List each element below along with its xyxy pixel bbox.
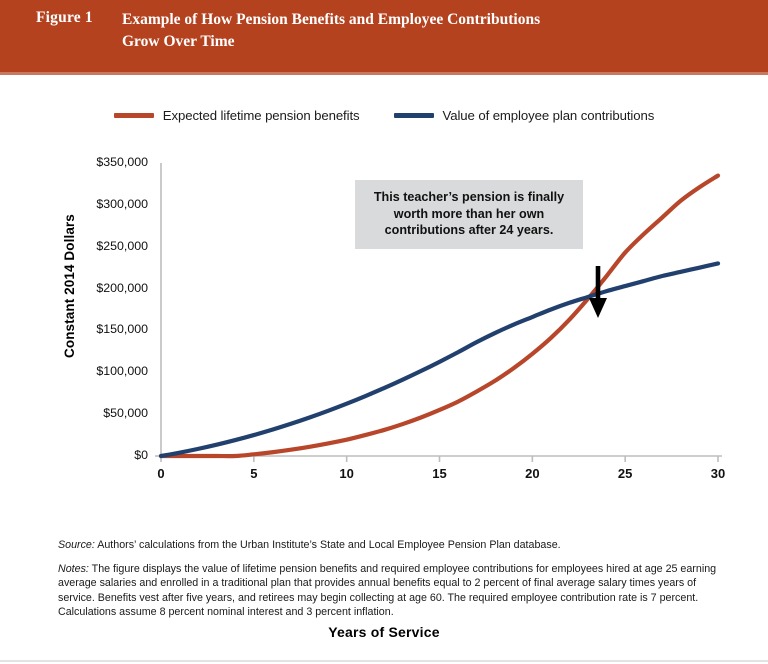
source-note: Source: Authors’ calculations from the U… bbox=[58, 538, 718, 553]
legend-swatch-red bbox=[114, 113, 154, 118]
y-tick-label: $350,000 bbox=[62, 155, 148, 169]
figure-footnotes: Source: Authors’ calculations from the U… bbox=[58, 538, 718, 629]
figure-title-line-1: Example of How Pension Benefits and Empl… bbox=[122, 11, 540, 28]
y-tick-label: $0 bbox=[62, 448, 148, 462]
annotation-line-2: worth more than her own bbox=[365, 206, 573, 223]
source-label: Source: bbox=[58, 539, 95, 551]
page-bottom-rule bbox=[0, 660, 768, 662]
legend-swatch-blue bbox=[394, 113, 434, 118]
annotation-callout: This teacher’s pension is finally worth … bbox=[355, 180, 583, 249]
y-tick-label: $100,000 bbox=[62, 364, 148, 378]
x-tick-label: 10 bbox=[327, 466, 367, 481]
x-tick-label: 15 bbox=[420, 466, 460, 481]
y-tick-label: $300,000 bbox=[62, 197, 148, 211]
y-tick-label: $50,000 bbox=[62, 406, 148, 420]
chart-legend: Expected lifetime pension benefits Value… bbox=[0, 108, 768, 134]
legend-label-employee-contributions: Value of employee plan contributions bbox=[443, 108, 655, 123]
header-underline bbox=[0, 72, 768, 75]
x-tick-label: 0 bbox=[141, 466, 181, 481]
x-tick-label: 25 bbox=[605, 466, 645, 481]
annotation-line-3: contributions after 24 years. bbox=[365, 222, 573, 239]
header-content: Figure 1Example of How Pension Benefits … bbox=[36, 9, 748, 53]
notes-text: The figure displays the value of lifetim… bbox=[58, 563, 716, 619]
x-tick-label: 20 bbox=[512, 466, 552, 481]
figure-page: Figure 1Example of How Pension Benefits … bbox=[0, 0, 768, 664]
figure-title: Example of How Pension Benefits and Empl… bbox=[122, 9, 540, 53]
figure-number-label: Figure 1 bbox=[36, 9, 122, 27]
source-text: Authors’ calculations from the Urban Ins… bbox=[95, 539, 561, 551]
legend-label-pension-benefits: Expected lifetime pension benefits bbox=[163, 108, 360, 123]
figure-title-line-2: Grow Over Time bbox=[122, 31, 540, 53]
series-line-employee-contributions bbox=[161, 263, 718, 456]
annotation-line-1: This teacher’s pension is finally bbox=[365, 189, 573, 206]
legend-item-employee-contributions: Value of employee plan contributions bbox=[394, 108, 655, 123]
y-tick-label: $200,000 bbox=[62, 281, 148, 295]
notes-note: Notes: The figure displays the value of … bbox=[58, 562, 718, 620]
notes-label: Notes: bbox=[58, 563, 89, 575]
figure-header-banner: Figure 1Example of How Pension Benefits … bbox=[0, 0, 768, 72]
legend-item-pension-benefits: Expected lifetime pension benefits bbox=[114, 108, 360, 123]
y-tick-label: $150,000 bbox=[62, 322, 148, 336]
x-tick-label: 30 bbox=[698, 466, 738, 481]
x-tick-label: 5 bbox=[234, 466, 274, 481]
y-tick-label: $250,000 bbox=[62, 239, 148, 253]
